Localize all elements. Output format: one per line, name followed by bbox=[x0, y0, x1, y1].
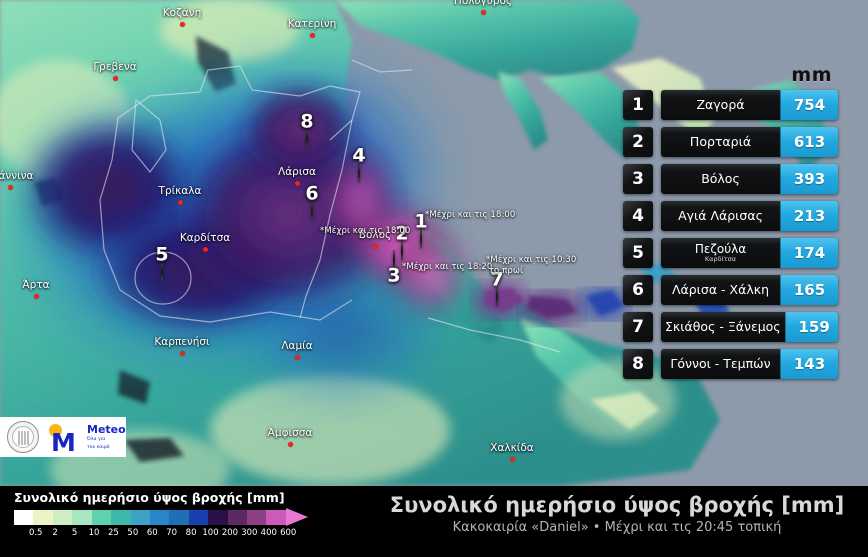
station-name-cell: Αγιά Λάρισας bbox=[661, 201, 780, 231]
legend-tick: 5 bbox=[65, 528, 84, 538]
station-name: Πορταριά bbox=[690, 135, 751, 148]
unit-header: mm bbox=[791, 64, 832, 86]
region-border-west bbox=[100, 118, 352, 322]
station-marker-7[interactable]: 7 bbox=[496, 288, 498, 307]
city-label: Κοζάνη bbox=[163, 7, 201, 19]
city-label: Άρτα bbox=[22, 279, 49, 291]
station-name: Ζαγορά bbox=[696, 98, 744, 111]
station-name: Πεζούλα bbox=[695, 243, 746, 256]
station-value: 143 bbox=[780, 349, 838, 379]
ranking-row[interactable]: 1Ζαγορά754 bbox=[623, 90, 838, 120]
city-dot-icon bbox=[180, 351, 185, 356]
station-name: Αγιά Λάρισας bbox=[678, 209, 763, 222]
station-marker-5[interactable]: 5 bbox=[161, 263, 163, 282]
legend-title: Συνολικό ημερήσιο ύψος βροχής [mm] bbox=[14, 490, 364, 505]
footer-bar: Συνολικό ημερήσιο ύψος βροχής [mm] 0.525… bbox=[0, 486, 868, 557]
station-value: 159 bbox=[785, 312, 838, 342]
city-dot-icon bbox=[295, 355, 300, 360]
city-dot-icon bbox=[113, 76, 118, 81]
legend-swatch bbox=[228, 510, 247, 525]
station-marker-6[interactable]: 6 bbox=[311, 202, 313, 221]
rank-badge: 6 bbox=[623, 275, 653, 305]
meteo-mark-icon: M bbox=[49, 424, 83, 451]
city-label: Λάρισα bbox=[278, 166, 316, 178]
legend-tick: 100 bbox=[201, 528, 220, 538]
region-border-south bbox=[428, 318, 560, 352]
footer-subtitle: Κακοκαιρία «Daniel» • Μέχρι και τις 20:4… bbox=[382, 519, 852, 537]
map-annotation: *Μέχρι και τις 18:00 bbox=[320, 226, 410, 237]
station-ranking-table: 1Ζαγορά7542Πορταριά6133Βόλος3934Αγιά Λάρ… bbox=[623, 90, 838, 386]
city-label: Κατερίνη bbox=[288, 18, 337, 30]
legend-swatch bbox=[33, 510, 52, 525]
meteo-tagline-1: Όλα για bbox=[87, 437, 126, 443]
city-label: Λαμία bbox=[281, 340, 312, 352]
legend-swatch bbox=[266, 510, 285, 525]
station-name-cell: Πορταριά bbox=[661, 127, 780, 157]
legend-tick: 80 bbox=[181, 528, 200, 538]
station-marker-number: 5 bbox=[155, 246, 168, 265]
map-annotation: *Μέχρι και τις 18:00 bbox=[425, 210, 515, 221]
station-name-cell: Βόλος bbox=[661, 164, 780, 194]
station-name-cell: Ζαγορά bbox=[661, 90, 780, 120]
city-label: Καρπενήσι bbox=[154, 336, 209, 348]
station-marker-number: 6 bbox=[305, 185, 318, 204]
ranking-bar[interactable]: Λάρισα - Χάλκη165 bbox=[661, 275, 838, 305]
meteo-tagline-2: τον καιρό bbox=[87, 445, 126, 451]
meteo-brand-text: Meteo bbox=[87, 424, 126, 435]
legend-swatch bbox=[208, 510, 227, 525]
legend-swatch bbox=[72, 510, 91, 525]
legend-tick: 10 bbox=[84, 528, 103, 538]
ranking-bar[interactable]: Σκιάθος - Ξάνεμος159 bbox=[661, 312, 838, 342]
legend-tick-labels: 0.525102550607080100200300400600 bbox=[26, 528, 298, 538]
legend-tick: 2 bbox=[45, 528, 64, 538]
legend-arrow-icon bbox=[286, 508, 308, 526]
region-border-inner bbox=[132, 100, 166, 172]
station-value: 393 bbox=[780, 164, 838, 194]
logo-bar: M Meteo Όλα για τον καιρό bbox=[0, 417, 126, 457]
station-name: Λάρισα - Χάλκη bbox=[672, 283, 769, 296]
legend-tick: 25 bbox=[104, 528, 123, 538]
legend-swatch bbox=[111, 510, 130, 525]
station-name: Γόννοι - Τεμπών bbox=[670, 357, 770, 370]
legend-tick: 70 bbox=[162, 528, 181, 538]
station-value: 213 bbox=[780, 201, 838, 231]
meteo-wordmark: Meteo Όλα για τον καιρό bbox=[87, 424, 126, 450]
city-dot-icon bbox=[310, 33, 315, 38]
ranking-row[interactable]: 6Λάρισα - Χάλκη165 bbox=[623, 275, 838, 305]
city-label: Άμφισσα bbox=[268, 427, 313, 439]
legend-tick: 50 bbox=[123, 528, 142, 538]
ranking-bar[interactable]: Αγιά Λάρισας213 bbox=[661, 201, 838, 231]
ranking-row[interactable]: 3Βόλος393 bbox=[623, 164, 838, 194]
noa-seal-icon bbox=[7, 421, 39, 453]
rank-badge: 4 bbox=[623, 201, 653, 231]
rank-badge: 7 bbox=[623, 312, 653, 342]
city-dot-icon bbox=[180, 22, 185, 27]
legend-swatch bbox=[150, 510, 169, 525]
legend-tick: 0.5 bbox=[26, 528, 45, 538]
ranking-row[interactable]: 7Σκιάθος - Ξάνεμος159 bbox=[623, 312, 838, 342]
legend-tick: 300 bbox=[240, 528, 259, 538]
seal-figure-icon bbox=[17, 431, 30, 445]
ranking-bar[interactable]: Γόννοι - Τεμπών143 bbox=[661, 349, 838, 379]
rank-badge: 5 bbox=[623, 238, 653, 268]
station-marker-number: 8 bbox=[300, 113, 313, 132]
color-legend: Συνολικό ημερήσιο ύψος βροχής [mm] 0.525… bbox=[14, 490, 364, 538]
rank-badge: 8 bbox=[623, 349, 653, 379]
station-value: 754 bbox=[780, 90, 838, 120]
legend-swatch bbox=[131, 510, 150, 525]
ranking-row[interactable]: 2Πορταριά613 bbox=[623, 127, 838, 157]
legend-tick: 60 bbox=[143, 528, 162, 538]
station-name-cell: ΠεζούλαΚαρδίτσα bbox=[661, 238, 780, 268]
legend-tick: 600 bbox=[278, 528, 297, 538]
station-name-cell: Λάρισα - Χάλκη bbox=[661, 275, 780, 305]
legend-swatch bbox=[14, 510, 33, 525]
station-marker-2[interactable]: 2 bbox=[401, 242, 403, 261]
meteo-logo: M Meteo Όλα για τον καιρό bbox=[49, 424, 126, 451]
city-dot-icon bbox=[34, 294, 39, 299]
city-label: Γρεβενά bbox=[93, 61, 136, 73]
city-dot-icon bbox=[288, 442, 293, 447]
city-dot-icon bbox=[295, 181, 300, 186]
map-annotation: *Μέχρι και τις 10:30 το πρωί bbox=[486, 255, 576, 276]
legend-tick: 400 bbox=[259, 528, 278, 538]
station-value: 174 bbox=[780, 238, 838, 268]
city-label: Ιωάννινα bbox=[0, 170, 33, 182]
ranking-row[interactable]: 4Αγιά Λάρισας213 bbox=[623, 201, 838, 231]
station-name: Σκιάθος - Ξάνεμος bbox=[665, 320, 781, 333]
legend-swatch bbox=[53, 510, 72, 525]
ranking-row[interactable]: 8Γόννοι - Τεμπών143 bbox=[623, 349, 838, 379]
ranking-bar[interactable]: Πορταριά613 bbox=[661, 127, 838, 157]
legend-swatch bbox=[247, 510, 266, 525]
city-dot-icon bbox=[203, 247, 208, 252]
station-value: 165 bbox=[780, 275, 838, 305]
region-border-ne bbox=[352, 60, 412, 72]
station-value: 613 bbox=[780, 127, 838, 157]
map-annotation: *Μέχρι και τις 18:20 bbox=[402, 262, 492, 273]
city-dot-icon bbox=[481, 10, 486, 15]
legend-swatch bbox=[169, 510, 188, 525]
station-marker-8[interactable]: 8 bbox=[306, 130, 308, 149]
rank-badge: 3 bbox=[623, 164, 653, 194]
legend-swatch bbox=[92, 510, 111, 525]
city-dot-icon bbox=[510, 457, 515, 462]
meteo-m-letter: M bbox=[51, 430, 76, 455]
region-border-north bbox=[118, 66, 360, 140]
city-label: Πολύγυρος bbox=[454, 0, 512, 7]
rainfall-map: ΚοζάνηΚατερίνηΠολύγυροςΓρεβενάΙωάννιναΤρ… bbox=[0, 0, 868, 486]
city-label: Χαλκίδα bbox=[490, 442, 533, 454]
station-name-cell: Σκιάθος - Ξάνεμος bbox=[661, 312, 785, 342]
ranking-bar[interactable]: Βόλος393 bbox=[661, 164, 838, 194]
footer-title-block: Συνολικό ημερήσιο ύψος βροχής [mm] Κακοκ… bbox=[382, 492, 852, 537]
region-border-east bbox=[300, 120, 352, 318]
city-label: Καρδίτσα bbox=[180, 232, 230, 244]
ranking-bar[interactable]: Ζαγορά754 bbox=[661, 90, 838, 120]
legend-color-ramp bbox=[14, 510, 286, 525]
station-marker-4[interactable]: 4 bbox=[358, 164, 360, 183]
rank-badge: 1 bbox=[623, 90, 653, 120]
station-marker-number: 4 bbox=[352, 147, 365, 166]
rank-badge: 2 bbox=[623, 127, 653, 157]
station-marker-3[interactable]: 3 bbox=[393, 251, 395, 270]
station-name-cell: Γόννοι - Τεμπών bbox=[661, 349, 780, 379]
city-label: Τρίκαλα bbox=[159, 185, 202, 197]
ranking-row[interactable]: 5ΠεζούλαΚαρδίτσα174 bbox=[623, 238, 838, 268]
ranking-bar[interactable]: ΠεζούλαΚαρδίτσα174 bbox=[661, 238, 838, 268]
station-marker-number: 3 bbox=[387, 267, 400, 286]
station-name: Βόλος bbox=[701, 172, 740, 185]
city-dot-icon bbox=[8, 185, 13, 190]
legend-tick: 200 bbox=[220, 528, 239, 538]
city-dot-icon bbox=[178, 200, 183, 205]
station-marker-1[interactable]: 1 bbox=[420, 230, 422, 249]
city-dot-icon bbox=[373, 244, 378, 249]
footer-title: Συνολικό ημερήσιο ύψος βροχής [mm] bbox=[382, 492, 852, 518]
legend-swatch bbox=[189, 510, 208, 525]
station-sub-label: Καρδίτσα bbox=[705, 256, 736, 263]
